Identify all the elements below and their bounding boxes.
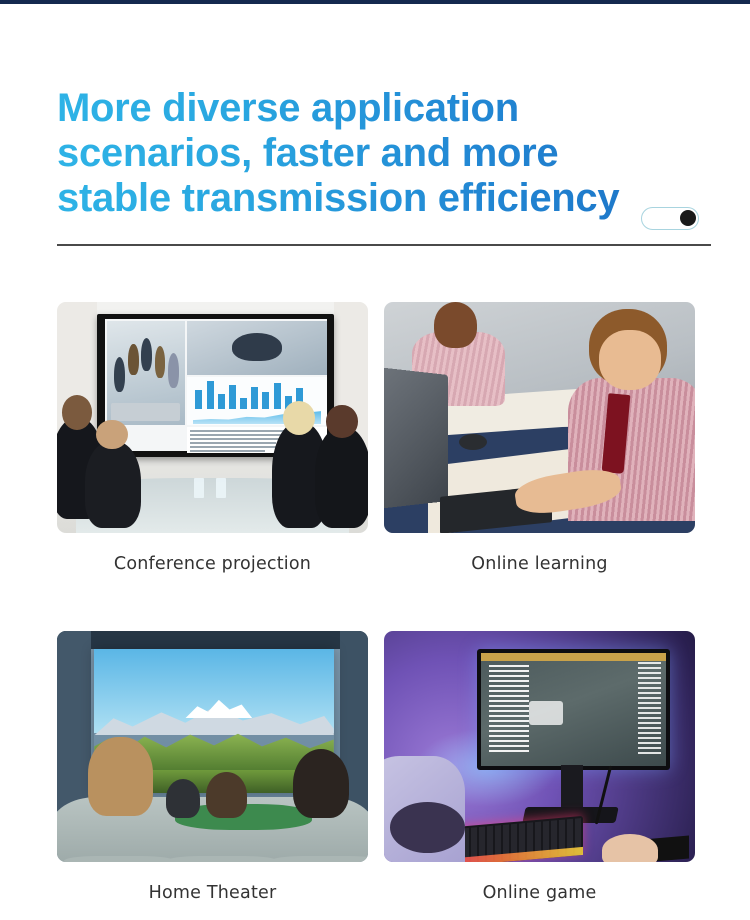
viewer-child-2 — [206, 772, 246, 818]
online-game-photo — [384, 631, 695, 862]
gamer-arm — [390, 802, 465, 853]
gamer-hand — [602, 834, 658, 862]
promo-page: More diverse application scenarios, fast… — [0, 0, 750, 920]
home-theater-photo — [57, 631, 368, 862]
viewer-adult-left — [88, 737, 153, 816]
video-tile-room — [107, 321, 186, 425]
scenario-card-online-game[interactable]: Online game — [384, 631, 695, 903]
scenario-card-home-theater[interactable]: Home Theater — [57, 631, 368, 903]
scenario-card-conference-projection[interactable]: Conference projection — [57, 302, 368, 574]
top-accent-strip — [0, 0, 750, 4]
toggle-knob — [680, 210, 696, 226]
scenario-caption: Online game — [384, 883, 695, 903]
teacher-head — [434, 302, 478, 348]
student-face — [599, 330, 661, 390]
viewer-adult-right — [293, 749, 349, 818]
computer-mouse — [459, 434, 487, 450]
conference-projection-photo — [57, 302, 368, 533]
ceiling — [57, 631, 368, 649]
heading-divider — [57, 244, 711, 246]
heading-block: More diverse application scenarios, fast… — [57, 86, 717, 221]
gaming-monitor-screen — [481, 653, 666, 765]
attendee-right-2 — [315, 427, 368, 529]
scenario-grid: Conference projection Online learning — [57, 302, 695, 903]
scenario-card-online-learning[interactable]: Online learning — [384, 302, 695, 574]
wall-left — [57, 631, 91, 811]
online-learning-photo — [384, 302, 695, 533]
gaming-monitor-frame — [477, 649, 670, 769]
scenario-caption: Conference projection — [57, 554, 368, 574]
monitor-stand-neck — [561, 765, 583, 811]
scenario-caption: Home Theater — [57, 883, 368, 903]
scenario-caption: Online learning — [384, 554, 695, 574]
viewer-child-1 — [166, 779, 200, 818]
video-tile-speaker — [187, 321, 327, 375]
toggle-switch[interactable] — [641, 207, 699, 230]
classroom-monitor — [384, 367, 447, 510]
page-title: More diverse application scenarios, fast… — [57, 86, 717, 221]
attendee-left-2 — [85, 441, 141, 529]
